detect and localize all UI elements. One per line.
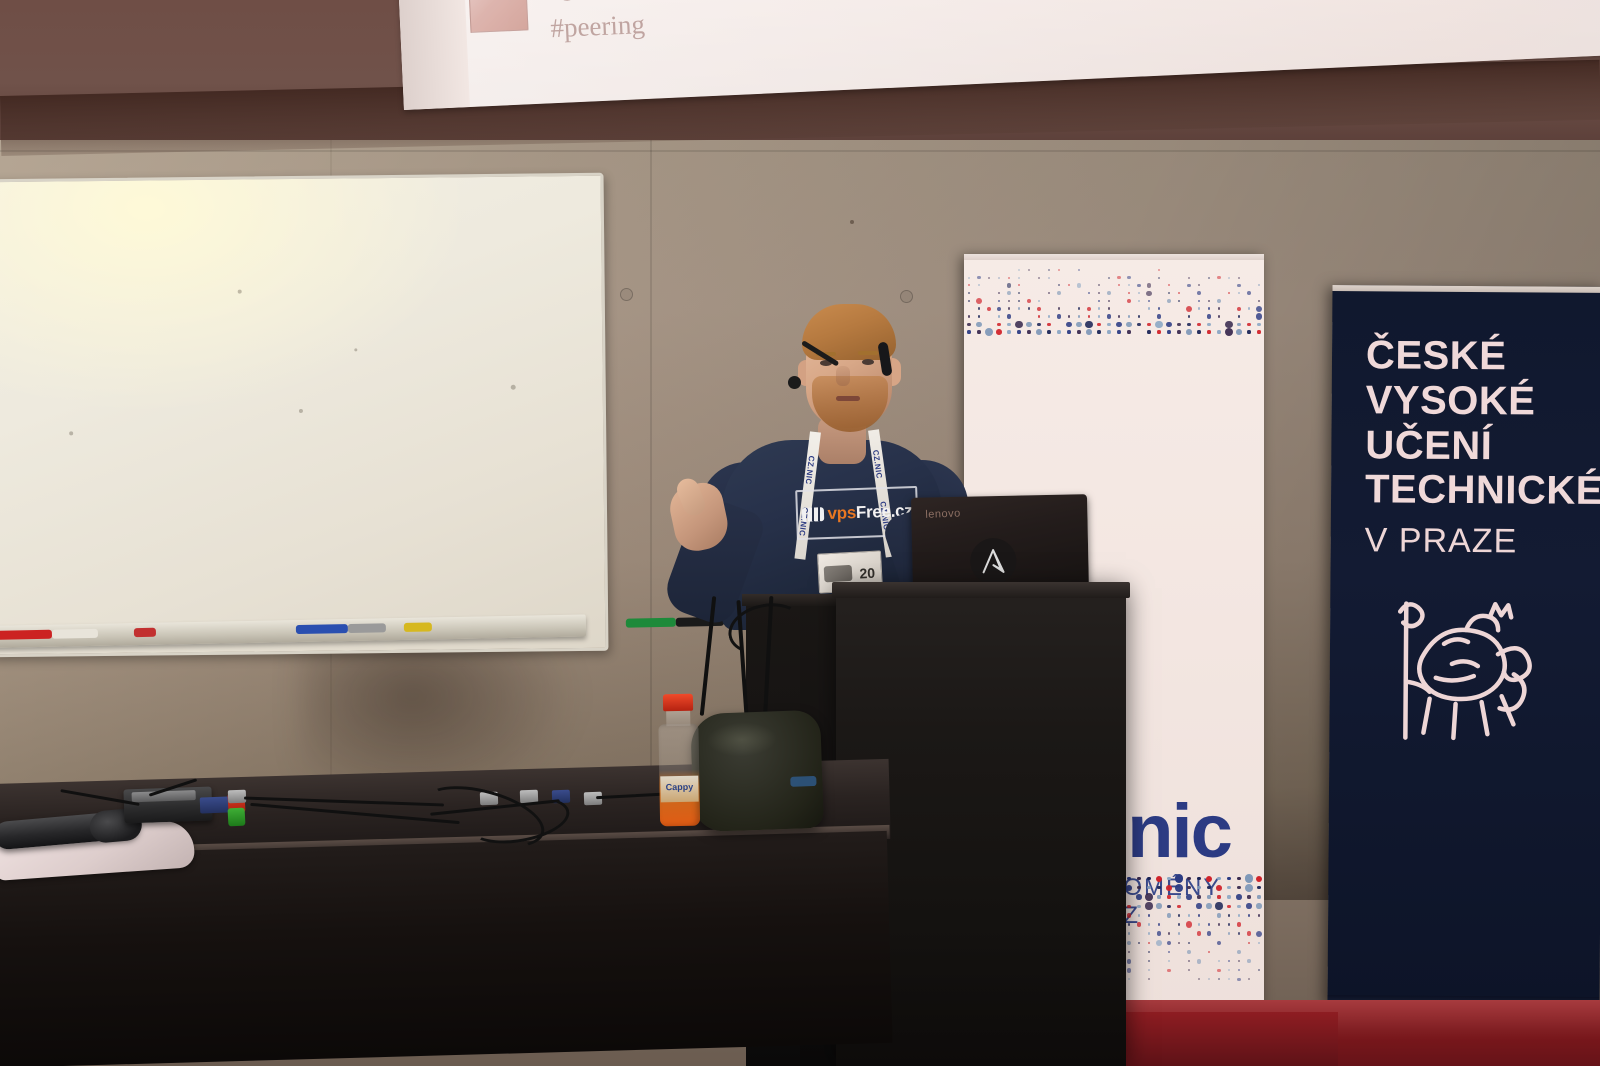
halftone-dot bbox=[1177, 330, 1180, 333]
halftone-dot bbox=[1198, 300, 1201, 303]
halftone-dot bbox=[1058, 284, 1060, 286]
halftone-dot bbox=[1168, 960, 1170, 962]
halftone-dot bbox=[1118, 315, 1121, 318]
halftone-dot bbox=[1187, 877, 1191, 881]
whiteboard-mark bbox=[238, 290, 242, 294]
halftone-dot bbox=[1157, 886, 1160, 889]
whiteboard-marker bbox=[296, 624, 348, 634]
halftone-dot bbox=[1196, 903, 1201, 908]
bag-zip bbox=[790, 776, 816, 787]
halftone-dot bbox=[1018, 269, 1020, 271]
halftone-dot bbox=[1188, 315, 1191, 318]
halftone-dot bbox=[1218, 923, 1221, 926]
halftone-dot bbox=[1236, 329, 1242, 335]
halftone-dot bbox=[1058, 307, 1061, 310]
halftone-dot bbox=[1157, 330, 1160, 333]
halftone-dot bbox=[1198, 978, 1200, 980]
halftone-dot bbox=[1168, 951, 1170, 953]
halftone-dot bbox=[1167, 969, 1170, 972]
halftone-dot bbox=[1188, 914, 1191, 917]
halftone-dot bbox=[1208, 277, 1210, 279]
halftone-dot bbox=[1167, 877, 1171, 881]
halftone-dot bbox=[1048, 277, 1050, 279]
halftone-dot bbox=[1227, 895, 1230, 898]
projection-right-margin bbox=[1432, 0, 1600, 63]
halftone-dot bbox=[1137, 922, 1142, 927]
halftone-dot bbox=[1167, 330, 1170, 333]
halftone-dot bbox=[1107, 330, 1110, 333]
halftone-dot bbox=[1198, 923, 1201, 926]
halftone-dot bbox=[1157, 895, 1160, 898]
halftone-dot bbox=[1018, 277, 1020, 279]
halftone-dot bbox=[1037, 323, 1040, 326]
halftone-dot bbox=[1146, 291, 1151, 296]
halftone-dot bbox=[1186, 894, 1191, 899]
halftone-dot bbox=[1136, 894, 1141, 899]
halftone-dot bbox=[1208, 978, 1210, 980]
halftone-dot bbox=[1117, 330, 1120, 333]
halftone-dot bbox=[1218, 960, 1220, 962]
halftone-dot bbox=[1078, 269, 1080, 271]
cvut-line-4: TECHNICKÉ bbox=[1365, 468, 1595, 514]
halftone-dot bbox=[1257, 886, 1260, 889]
halftone-dot bbox=[1027, 330, 1030, 333]
halftone-dot bbox=[1228, 277, 1230, 279]
halftone-dot bbox=[1228, 978, 1230, 980]
halftone-dot bbox=[1137, 284, 1140, 287]
halftone-dot bbox=[1178, 932, 1181, 935]
halftone-dot bbox=[1186, 921, 1193, 928]
halftone-dot bbox=[1227, 905, 1230, 908]
halftone-dot bbox=[1128, 292, 1130, 294]
halftone-dot bbox=[1138, 292, 1140, 294]
halftone-dot bbox=[1028, 269, 1030, 271]
halftone-dot bbox=[1188, 277, 1190, 279]
vga-connector bbox=[200, 796, 231, 813]
halftone-dot bbox=[1198, 284, 1200, 286]
halftone-dot bbox=[1256, 313, 1263, 320]
halftone-dot bbox=[1207, 323, 1210, 326]
whiteboard bbox=[0, 173, 608, 657]
cvut-title: ČESKÉ VYSOKÉ UČENÍ TECHNICKÉ bbox=[1365, 333, 1596, 514]
halftone-dot bbox=[1117, 276, 1120, 279]
tweet-avatar-icon bbox=[468, 0, 529, 33]
halftone-dot bbox=[1238, 932, 1241, 935]
halftone-dot bbox=[1187, 323, 1190, 326]
halftone-dot bbox=[1127, 330, 1130, 333]
halftone-dot bbox=[1247, 895, 1250, 898]
halftone-dot bbox=[1148, 960, 1150, 962]
halftone-dot bbox=[1198, 307, 1201, 310]
halftone-dot bbox=[1127, 877, 1131, 881]
halftone-dot bbox=[1257, 330, 1260, 333]
whiteboard-marker bbox=[52, 629, 98, 639]
bottle-brand: Cappy bbox=[660, 782, 698, 793]
halftone-dot bbox=[1237, 922, 1242, 927]
halftone-dot bbox=[1128, 923, 1131, 926]
tweet-mention: @michalkrsek bbox=[555, 0, 715, 2]
halftone-dot bbox=[1217, 895, 1220, 898]
halftone-dot bbox=[1237, 950, 1241, 954]
czech-lion-icon bbox=[1369, 585, 1560, 746]
halftone-dot bbox=[1218, 978, 1220, 980]
halftone-dot bbox=[988, 277, 990, 279]
halftone-dot bbox=[1217, 941, 1221, 945]
halftone-dot bbox=[1188, 960, 1190, 962]
halftone-dot bbox=[1178, 923, 1181, 926]
halftone-dot bbox=[1148, 978, 1150, 980]
halftone-dot bbox=[1217, 276, 1220, 279]
halftone-dot bbox=[1157, 314, 1162, 319]
halftone-dot bbox=[1037, 307, 1042, 312]
projection-left-margin bbox=[393, 0, 470, 110]
halftone-dot bbox=[1097, 330, 1100, 333]
right-eyebrow bbox=[858, 351, 878, 355]
halftone-dot bbox=[1227, 886, 1230, 889]
halftone-dot bbox=[1175, 884, 1183, 892]
halftone-dot bbox=[1197, 931, 1201, 935]
halftone-dot bbox=[1245, 884, 1253, 892]
halftone-dot bbox=[1127, 959, 1132, 964]
halftone-dot bbox=[1207, 314, 1212, 319]
halftone-dot bbox=[1207, 886, 1210, 889]
halftone-dot bbox=[1138, 315, 1141, 318]
whiteboard-marker bbox=[134, 628, 156, 637]
halftone-dot bbox=[1128, 951, 1130, 953]
halftone-dot bbox=[1256, 306, 1262, 312]
halftone-dot bbox=[1246, 903, 1251, 908]
halftone-dot bbox=[1187, 950, 1191, 954]
halftone-dot bbox=[1206, 876, 1212, 882]
halftone-dot bbox=[1098, 315, 1101, 318]
halftone-dot bbox=[1027, 299, 1031, 303]
halftone-dot bbox=[1237, 323, 1240, 326]
halftone-dot bbox=[1098, 292, 1100, 294]
halftone-dot bbox=[977, 276, 980, 279]
halftone-dot bbox=[1238, 315, 1241, 318]
halftone-dot bbox=[1116, 322, 1121, 327]
halftone-dot bbox=[1158, 923, 1161, 926]
whiteboard-mark bbox=[511, 385, 516, 390]
halftone-dot bbox=[1197, 959, 1202, 964]
halftone-dot bbox=[1247, 959, 1251, 963]
halftone-dot bbox=[1107, 314, 1112, 319]
halftone-dot bbox=[1216, 885, 1222, 891]
halftone-dot bbox=[1166, 322, 1171, 327]
halftone-dot bbox=[1127, 299, 1131, 303]
halftone-dot bbox=[1148, 923, 1151, 926]
halftone-dot bbox=[1048, 315, 1051, 318]
halftone-dot bbox=[1217, 969, 1220, 972]
bag-highlight bbox=[706, 721, 777, 757]
halftone-dot bbox=[1187, 284, 1190, 287]
halftone-dot bbox=[1178, 942, 1180, 944]
halftone-dot bbox=[1225, 328, 1233, 336]
halftone-dot bbox=[998, 277, 1000, 279]
halftone-dot bbox=[1147, 330, 1150, 333]
halftone-dot bbox=[1108, 300, 1111, 303]
halftone-dot bbox=[1147, 323, 1150, 326]
headset-mic-capsule bbox=[788, 376, 801, 389]
halftone-dot bbox=[1208, 300, 1211, 303]
halftone-dot bbox=[1107, 291, 1111, 295]
halftone-dot bbox=[1197, 323, 1200, 326]
halftone-dot bbox=[1087, 307, 1092, 312]
halftone-dot bbox=[1048, 292, 1050, 294]
green-plug bbox=[228, 808, 246, 827]
halftone-dot bbox=[1155, 321, 1162, 328]
halftone-dot bbox=[1207, 931, 1211, 935]
halftone-dot bbox=[1057, 314, 1062, 319]
halftone-dot bbox=[1047, 330, 1050, 333]
halftone-dot bbox=[1076, 322, 1081, 327]
whiteboard-marker bbox=[0, 630, 52, 640]
halftone-dot bbox=[1148, 969, 1150, 971]
halftone-dot bbox=[1198, 914, 1201, 917]
right-eye bbox=[862, 359, 874, 365]
vpsfree-mark-icon bbox=[801, 507, 823, 522]
tweet-prefix: . bbox=[548, 0, 556, 2]
halftone-dot bbox=[1228, 932, 1231, 935]
halftone-dot bbox=[1257, 895, 1260, 898]
halftone-dot bbox=[1197, 291, 1201, 295]
halftone-dot bbox=[1217, 299, 1221, 303]
halftone-dot bbox=[1026, 322, 1031, 327]
halftone-dot bbox=[1188, 942, 1190, 944]
halftone-dot bbox=[1258, 914, 1261, 917]
halftone-dot bbox=[1247, 330, 1250, 333]
halftone-dot bbox=[1248, 978, 1250, 980]
badge-logo-icon bbox=[824, 565, 853, 582]
halftone-dot bbox=[1248, 307, 1251, 310]
vpsfree-vps: vps bbox=[827, 503, 856, 523]
halftone-dot bbox=[1187, 886, 1190, 889]
halftone-dot bbox=[1097, 323, 1100, 326]
halftone-dot bbox=[1218, 307, 1221, 310]
cvut-line-2: VYSOKÉ bbox=[1366, 378, 1596, 424]
halftone-dot bbox=[1108, 307, 1111, 310]
halftone-dot bbox=[1147, 886, 1150, 889]
halftone-dot bbox=[1128, 284, 1130, 286]
halftone-dot bbox=[1156, 903, 1161, 908]
lecture-hall-photo: Marian Semrad .@michalkrsek na #LinuxDay… bbox=[0, 0, 1600, 1066]
halftone-dot bbox=[1126, 322, 1131, 327]
halftone-dot bbox=[1127, 276, 1130, 279]
halftone-dot bbox=[1186, 329, 1192, 335]
halftone-dot bbox=[1078, 315, 1081, 318]
badge-year: 20 bbox=[859, 565, 875, 582]
halftone-dot bbox=[1167, 905, 1170, 908]
halftone-dot bbox=[1047, 323, 1050, 326]
halftone-dot bbox=[1256, 903, 1261, 908]
halftone-dot bbox=[1098, 307, 1101, 310]
halftone-dot bbox=[1167, 299, 1171, 303]
whiteboard-marker bbox=[348, 623, 386, 633]
halftone-dot bbox=[1086, 329, 1092, 335]
halftone-dot bbox=[1066, 322, 1071, 327]
halftone-dot bbox=[1248, 942, 1250, 944]
halftone-dot bbox=[1138, 942, 1140, 944]
halftone-dot bbox=[1137, 323, 1140, 326]
halftone-dot bbox=[1158, 269, 1161, 272]
halftone-dot bbox=[1107, 323, 1110, 326]
halftone-dot bbox=[1238, 914, 1241, 917]
halftone-dot bbox=[1058, 269, 1061, 272]
halftone-dot bbox=[1197, 895, 1200, 898]
cvut-line-1: ČESKÉ bbox=[1366, 333, 1596, 379]
halftone-dot bbox=[1008, 277, 1010, 279]
halftone-dot bbox=[1258, 300, 1261, 303]
halftone-dot bbox=[1085, 321, 1092, 328]
halftone-dot bbox=[1247, 323, 1250, 326]
halftone-dot bbox=[1057, 330, 1060, 333]
halftone-dot bbox=[1217, 913, 1222, 918]
halftone-dot bbox=[1127, 968, 1132, 973]
halftone-dot bbox=[1207, 330, 1210, 333]
halftone-dot bbox=[1218, 315, 1221, 318]
halftone-dot bbox=[1167, 895, 1170, 898]
halftone-dot bbox=[1148, 307, 1151, 310]
halftone-dot bbox=[1177, 905, 1180, 908]
banner-top-rail bbox=[1332, 285, 1600, 293]
halftone-dot bbox=[1078, 307, 1081, 310]
halftone-dot bbox=[1247, 291, 1251, 295]
halftone-dot bbox=[1217, 330, 1220, 333]
halftone-dot bbox=[1208, 951, 1210, 953]
halftone-dot bbox=[1168, 284, 1170, 286]
halftone-dot bbox=[1217, 877, 1221, 881]
halftone-dot bbox=[1188, 969, 1190, 971]
halftone-dot bbox=[1237, 905, 1240, 908]
bottle-label: Cappy bbox=[660, 776, 698, 803]
halftone-dot bbox=[1126, 885, 1132, 891]
halftone-dot bbox=[1158, 307, 1161, 310]
halftone-dot bbox=[1197, 886, 1200, 889]
wall-speck bbox=[850, 220, 854, 224]
halftone-dot bbox=[1156, 940, 1162, 946]
bottle-neck bbox=[666, 710, 690, 726]
halftone-dot bbox=[1088, 315, 1091, 318]
halftone-dot bbox=[1237, 978, 1240, 981]
whiteboard-mark bbox=[354, 348, 357, 351]
halftone-dot bbox=[1028, 307, 1031, 310]
halftone-dot bbox=[1137, 905, 1140, 908]
lanyard-label: CZ.NIC bbox=[804, 455, 816, 485]
nose bbox=[836, 366, 850, 386]
halftone-dot bbox=[1256, 876, 1262, 882]
halftone-dot bbox=[1077, 330, 1080, 333]
whiteboard-mark bbox=[299, 409, 303, 413]
halftone-dot bbox=[1237, 877, 1241, 881]
halftone-dot bbox=[1228, 292, 1230, 294]
halftone-dot bbox=[1208, 923, 1211, 926]
halftone-dot bbox=[1177, 323, 1180, 326]
halftone-dot bbox=[1067, 330, 1070, 333]
halftone-dot bbox=[1247, 931, 1251, 935]
halftone-dot bbox=[1256, 931, 1262, 937]
halftone-dot bbox=[968, 277, 970, 279]
halftone-dot bbox=[1228, 914, 1231, 917]
halftone-dot bbox=[1128, 932, 1131, 935]
halftone-dot bbox=[1175, 874, 1183, 882]
halftone-dot bbox=[1258, 969, 1260, 971]
mouth bbox=[836, 396, 860, 401]
halftone-dot bbox=[1237, 307, 1242, 312]
floor-near-banner bbox=[1098, 1012, 1338, 1066]
halftone-dot bbox=[1148, 932, 1151, 935]
halftone-dot bbox=[1178, 300, 1181, 303]
halftone-dot bbox=[1128, 315, 1131, 318]
camera-bag bbox=[690, 710, 824, 832]
halftone-dot bbox=[1257, 323, 1260, 326]
halftone-dot bbox=[1206, 903, 1211, 908]
halftone-dot bbox=[1147, 877, 1151, 881]
halftone-dot bbox=[1127, 913, 1132, 918]
halftone-dot bbox=[1098, 284, 1100, 286]
halftone-dot bbox=[1178, 292, 1180, 294]
halftone-dot bbox=[1207, 895, 1210, 898]
halftone-dot bbox=[1228, 960, 1230, 962]
halftone-dot bbox=[1038, 277, 1040, 279]
halftone-dot bbox=[1238, 292, 1240, 294]
cvut-line-3: UČENÍ bbox=[1365, 423, 1595, 469]
halftone-dot bbox=[1137, 886, 1140, 889]
halftone-dot bbox=[1167, 913, 1172, 918]
halftone-dot bbox=[1148, 951, 1150, 953]
bottle-cap bbox=[663, 694, 693, 712]
halftone-dot bbox=[1148, 942, 1150, 944]
halftone-dot bbox=[1118, 284, 1120, 286]
cvut-banner: ČESKÉ VYSOKÉ UČENÍ TECHNICKÉ V PRAZE bbox=[1327, 285, 1600, 1007]
halftone-dot bbox=[1138, 300, 1141, 303]
lectern-top-surface bbox=[832, 582, 1130, 598]
halftone-dot bbox=[1088, 292, 1090, 294]
halftone-dot bbox=[1227, 877, 1231, 881]
halftone-dot bbox=[1228, 923, 1231, 926]
halftone-dot bbox=[1225, 321, 1232, 328]
whiteboard-mark bbox=[69, 431, 73, 435]
halftone-dot bbox=[1148, 914, 1151, 917]
halftone-dot bbox=[1108, 277, 1110, 279]
halftone-dot bbox=[1137, 877, 1141, 881]
halftone-dot bbox=[1156, 876, 1162, 882]
halftone-dot bbox=[1138, 914, 1141, 917]
halftone-dot bbox=[1178, 914, 1181, 917]
halftone-dot bbox=[1197, 330, 1200, 333]
halftone-dot bbox=[1245, 874, 1253, 882]
halftone-dot bbox=[1145, 893, 1153, 901]
halftone-dot bbox=[1186, 306, 1192, 312]
halftone-dot bbox=[1167, 941, 1171, 945]
halftone-dot bbox=[1057, 291, 1061, 295]
halftone-dot bbox=[1248, 914, 1251, 917]
halftone-dot bbox=[1128, 978, 1130, 980]
halftone-dot bbox=[1068, 315, 1071, 318]
halftone-dot bbox=[1238, 277, 1240, 279]
halftone-dot bbox=[1048, 269, 1050, 271]
logo-nic: nic bbox=[1127, 789, 1231, 874]
juice-bottle: Cappy bbox=[657, 694, 701, 827]
halftone-dot bbox=[1038, 315, 1041, 318]
halftone-dot bbox=[1148, 300, 1151, 303]
halftone-dot bbox=[1197, 877, 1201, 881]
halftone-dot bbox=[1038, 300, 1041, 303]
halftone-dot bbox=[1168, 932, 1171, 935]
halftone-dot bbox=[1068, 284, 1070, 286]
halftone-dot bbox=[1127, 905, 1130, 908]
halftone-dot bbox=[1127, 941, 1131, 945]
whiteboard-marker bbox=[404, 622, 432, 632]
